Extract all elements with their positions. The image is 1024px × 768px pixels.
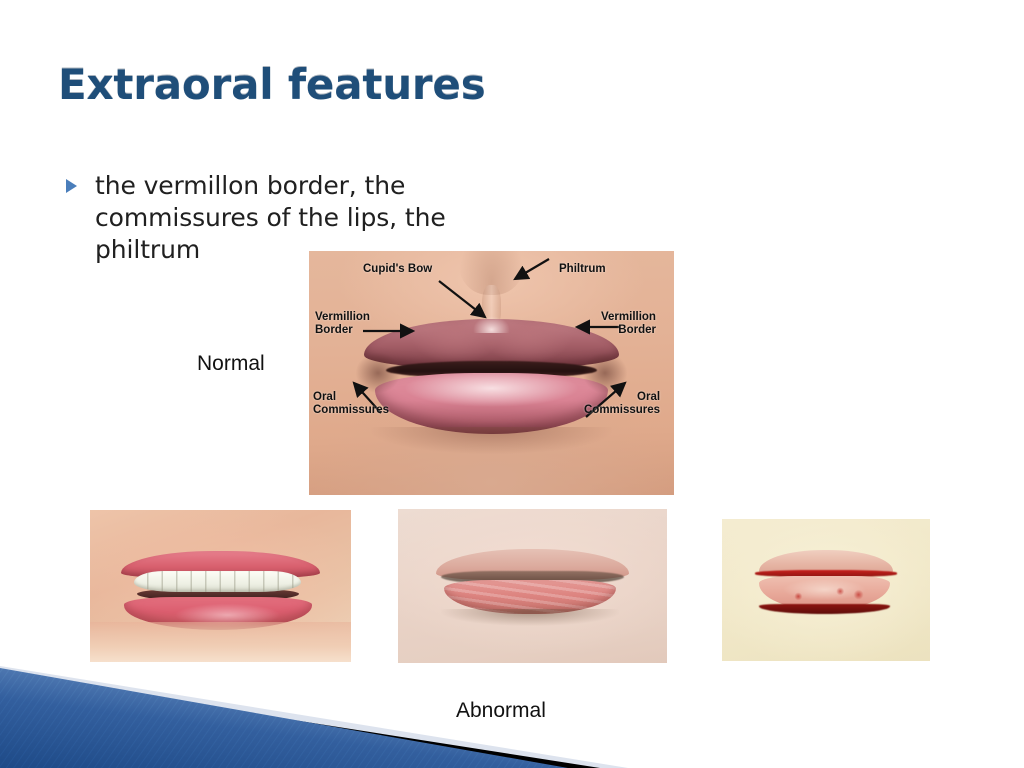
- annotation-philtrum: Philtrum: [559, 263, 606, 276]
- caption-normal: Normal: [197, 352, 265, 376]
- annotation-vermillion-border-right: Vermillion Border: [601, 311, 656, 337]
- annotation-oral-commissures-right: Oral Commissures: [584, 391, 660, 417]
- page-title: Extraoral features: [58, 60, 938, 109]
- slide-canvas: Extraoral features the vermillon border,…: [0, 0, 1024, 768]
- triangle-bullet-icon: [66, 179, 77, 193]
- annotation-vermillion-border-left: Vermillion Border: [315, 311, 370, 337]
- annotation-arrows: [309, 251, 674, 495]
- lip-anatomy-diagram-image: Cupid's Bow Philtrum Vermillion Border V…: [309, 251, 674, 495]
- corner-banner-decoration: [0, 588, 1024, 768]
- annotation-cupids-bow: Cupid's Bow: [363, 263, 432, 276]
- blue-triangle-texture: [0, 668, 568, 768]
- annotation-oral-commissures-left: Oral Commissures: [313, 391, 389, 417]
